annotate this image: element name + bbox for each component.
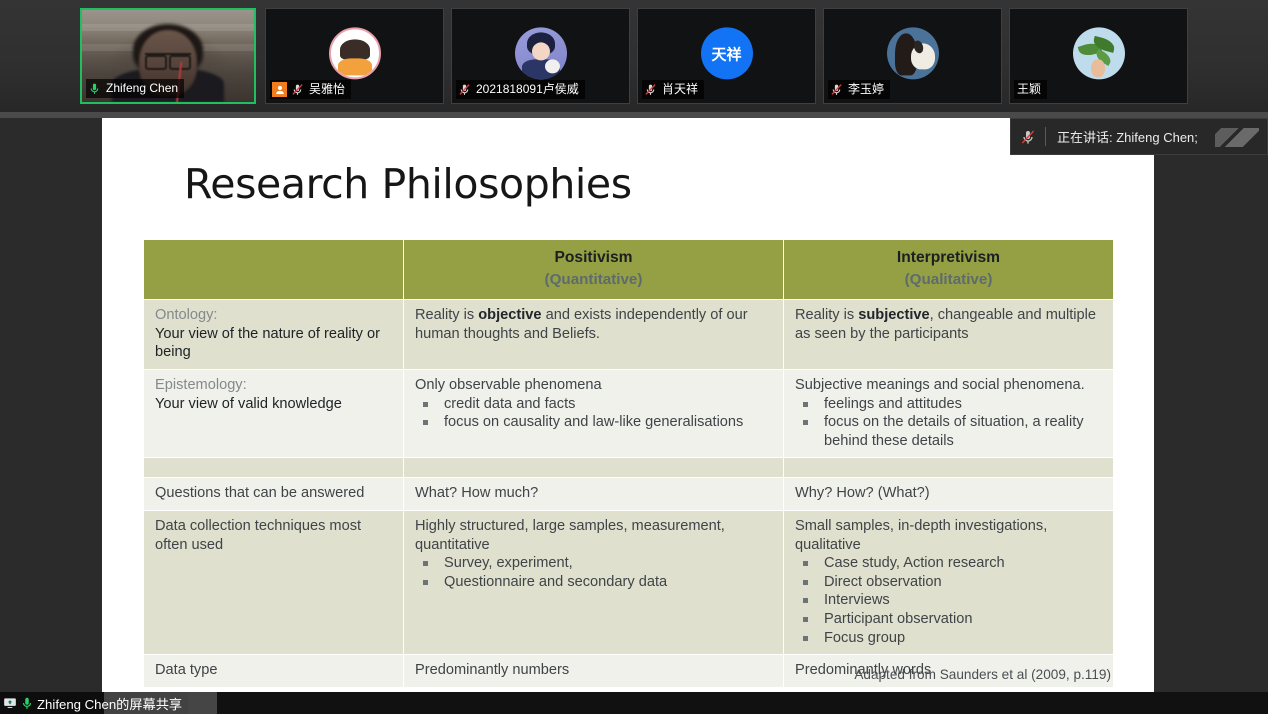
header-sub: (Quantitative) [412, 271, 775, 290]
participant-name-1: Zhifeng Chen [105, 81, 178, 96]
cell-lead-a: Reality is [795, 307, 858, 323]
table-row-epistemology: Epistemology: Your view of valid knowled… [144, 369, 1114, 457]
cell-lead: Only observable phenomena [415, 376, 773, 395]
table-row-data-collection: Data collection techniques most often us… [144, 510, 1114, 654]
cell-questions-interpretivism: Why? How? (What?) [784, 478, 1114, 511]
participant-tile-4[interactable]: 天祥 肖天祥 [637, 8, 816, 104]
participant-namebar-1: Zhifeng Chen [86, 79, 184, 98]
participant-tile-3[interactable]: 2021818091卢侯威 [451, 8, 630, 104]
participant-name-3: 2021818091卢侯威 [475, 82, 579, 97]
taskbar-label: Zhifeng Chen的屏幕共享 [37, 694, 182, 713]
participant-name-2: 吴雅怡 [308, 82, 345, 97]
taskbar-screenshare-item[interactable]: Zhifeng Chen的屏幕共享 [0, 692, 188, 714]
cell-lead: Subjective meanings and social phenomena… [795, 376, 1103, 395]
mic-muted-icon [291, 83, 304, 96]
list-item: credit data and facts [417, 395, 773, 414]
slide-source-citation: Adapted from Saunders et al (2009, p.119… [854, 667, 1111, 682]
presentation-slide: Research Philosophies Positivism (Quanti… [102, 118, 1154, 692]
table-header-blank [144, 240, 404, 300]
cell-epistemology-positivism: Only observable phenomena credit data an… [404, 369, 784, 457]
cell-data-collection-positivism: Highly structured, large samples, measur… [404, 510, 784, 654]
participant-namebar-5: 李玉婷 [828, 80, 890, 99]
cell-data-collection-interpretivism: Small samples, in-depth investigations, … [784, 510, 1114, 654]
cell-lead-a: Reality is [415, 307, 478, 323]
active-speaker-text: 正在讲话: Zhifeng Chen; [1046, 127, 1198, 146]
participant-tile-5[interactable]: 李玉婷 [823, 8, 1002, 104]
row-label-data-type: Data type [144, 655, 404, 688]
participant-name-6: 王颖 [1016, 82, 1041, 97]
row-label-epistemology: Epistemology: Your view of valid knowled… [144, 369, 404, 457]
spacer-cell [784, 458, 1114, 478]
cell-bullet-list: Survey, experiment, Questionnaire and se… [417, 554, 773, 591]
participant-tile-6[interactable]: 王颖 [1009, 8, 1188, 104]
header-sub: (Qualitative) [792, 271, 1105, 290]
participant-name-4: 肖天祥 [661, 82, 698, 97]
cell-bullet-list: feelings and attitudes focus on the deta… [797, 395, 1103, 451]
leaf-avatar-icon [1073, 27, 1125, 79]
screen-share-icon [3, 696, 17, 710]
list-item: Survey, experiment, [417, 554, 773, 573]
cell-lead-bold: objective [478, 307, 541, 323]
header-main: Interpretivism [792, 249, 1105, 268]
table-row-questions: Questions that can be answered What? How… [144, 478, 1114, 511]
spacer-cell [144, 458, 404, 478]
mic-icon [20, 696, 34, 710]
research-philosophies-table: Positivism (Quantitative) Interpretivism… [143, 239, 1114, 688]
shared-screen-region: Research Philosophies Positivism (Quanti… [0, 112, 1268, 692]
spacer-cell [404, 458, 784, 478]
row-label-desc: Your view of the nature of reality or be… [155, 325, 393, 362]
row-label-questions: Questions that can be answered [144, 478, 404, 511]
mic-muted-icon [644, 83, 657, 96]
list-item: Direct observation [797, 573, 1103, 592]
cell-ontology-interpretivism: Reality is subjective, changeable and mu… [784, 300, 1114, 370]
active-speaker-banner[interactable]: 正在讲话: Zhifeng Chen; [1010, 118, 1268, 155]
participant-namebar-4: 肖天祥 [642, 80, 704, 99]
cell-epistemology-interpretivism: Subjective meanings and social phenomena… [784, 369, 1114, 457]
girl-avatar-icon [329, 27, 381, 79]
cell-lead: Highly structured, large samples, measur… [415, 517, 773, 554]
row-label-desc: Your view of valid knowledge [155, 395, 393, 414]
participant-tile-2[interactable]: 吴雅怡 [265, 8, 444, 104]
cell-bullet-list: credit data and facts focus on causality… [417, 395, 773, 432]
text-avatar-icon: 天祥 [701, 27, 753, 79]
cell-bullet-list: Case study, Action research Direct obser… [797, 554, 1103, 647]
participant-tile-1[interactable]: Zhifeng Chen [80, 8, 256, 104]
list-item: Participant observation [797, 610, 1103, 629]
cell-data-type-positivism: Predominantly numbers [404, 655, 784, 688]
table-header-interpretivism: Interpretivism (Qualitative) [784, 240, 1114, 300]
cell-lead: Small samples, in-depth investigations, … [795, 517, 1103, 554]
row-label-term: Ontology: [155, 306, 393, 325]
cell-lead-bold: subjective [858, 307, 929, 323]
cell-ontology-positivism: Reality is objective and exists independ… [404, 300, 784, 370]
list-item: focus on the details of situation, a rea… [797, 413, 1103, 450]
taskbar: Zhifeng Chen的屏幕共享 [0, 692, 1268, 714]
host-badge-icon [272, 82, 287, 97]
list-item: Questionnaire and secondary data [417, 573, 773, 592]
participant-filmstrip: Zhifeng Chen 吴雅怡 2021818091卢侯威 [0, 0, 1268, 112]
anime-avatar-icon [515, 27, 567, 79]
table-header-positivism: Positivism (Quantitative) [404, 240, 784, 300]
list-item: focus on causality and law-like generali… [417, 413, 773, 432]
mic-muted-icon[interactable] [1011, 129, 1045, 145]
drag-handle-icon[interactable] [1215, 128, 1259, 147]
header-main: Positivism [412, 249, 775, 268]
table-header-row: Positivism (Quantitative) Interpretivism… [144, 240, 1114, 300]
participant-namebar-6: 王颖 [1014, 80, 1047, 99]
list-item: Focus group [797, 629, 1103, 648]
mic-icon [88, 82, 101, 95]
avatar-initials: 天祥 [711, 43, 741, 64]
list-item: feelings and attitudes [797, 395, 1103, 414]
row-label-ontology: Ontology: Your view of the nature of rea… [144, 300, 404, 370]
page-title: Research Philosophies [184, 160, 632, 208]
participant-namebar-2: 吴雅怡 [270, 80, 351, 99]
photo-avatar-icon [887, 27, 939, 79]
cell-questions-positivism: What? How much? [404, 478, 784, 511]
mic-muted-icon [458, 83, 471, 96]
participant-name-5: 李玉婷 [847, 82, 884, 97]
list-item: Case study, Action research [797, 554, 1103, 573]
row-label-data-collection: Data collection techniques most often us… [144, 510, 404, 654]
list-item: Interviews [797, 591, 1103, 610]
row-label-term: Epistemology: [155, 376, 393, 395]
table-row-spacer [144, 458, 1114, 478]
table-row-ontology: Ontology: Your view of the nature of rea… [144, 300, 1114, 370]
mic-muted-icon [830, 83, 843, 96]
participant-namebar-3: 2021818091卢侯威 [456, 80, 585, 99]
